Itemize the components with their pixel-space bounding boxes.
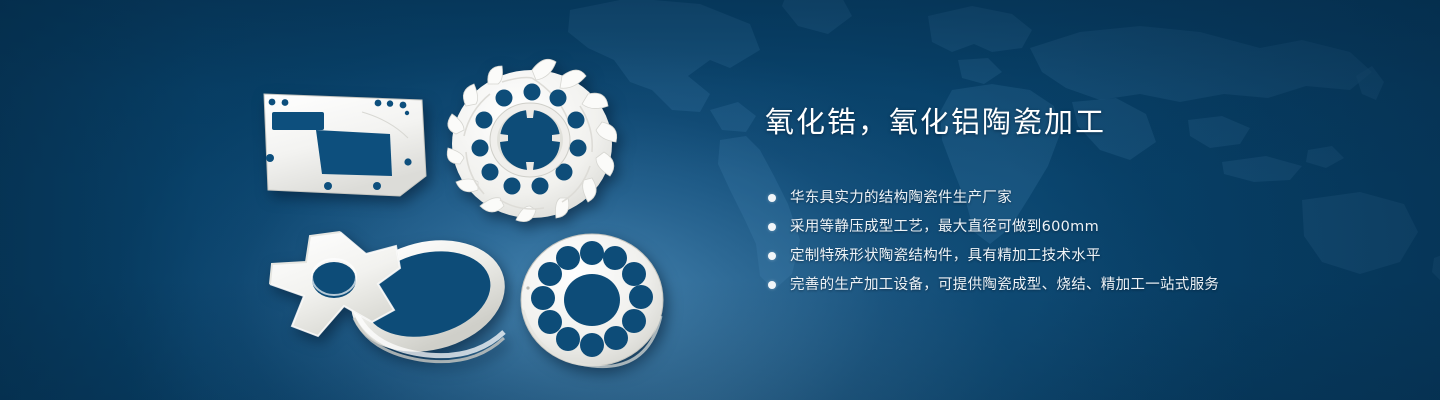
product-photo-group [0,0,760,400]
feature-list-item: 华东具实力的结构陶瓷件生产厂家 [768,188,1385,208]
feature-text: 采用等静压成型工艺，最大直径可做到600mm [790,219,1099,235]
bullet-dot-icon [768,252,776,260]
banner-headline: 氧化锆，氧化铝陶瓷加工 [765,104,1385,140]
ceramic-cross-plate-and-ring-image [248,218,518,373]
feature-text: 完善的生产加工设备，可提供陶瓷成型、烧结、精加工一站式服务 [790,277,1219,293]
banner-copy: 氧化锆，氧化铝陶瓷加工 华东具实力的结构陶瓷件生产厂家 采用等静压成型工艺，最大… [765,104,1385,304]
feature-list-item: 完善的生产加工设备，可提供陶瓷成型、烧结、精加工一站式服务 [768,275,1385,295]
bullet-dot-icon [768,223,776,231]
feature-list: 华东具实力的结构陶瓷件生产厂家 采用等静压成型工艺，最大直径可做到600mm 定… [768,188,1385,295]
ceramic-impeller-disc-image [440,48,625,233]
ceramic-mounting-plate-image [250,78,440,208]
bullet-dot-icon [768,194,776,202]
feature-list-item: 采用等静压成型工艺，最大直径可做到600mm [768,217,1385,237]
hero-banner: 氧化锆，氧化铝陶瓷加工 华东具实力的结构陶瓷件生产厂家 采用等静压成型工艺，最大… [0,0,1440,400]
feature-list-item: 定制特殊形状陶瓷结构件，具有精加工技术水平 [768,246,1385,266]
feature-text: 华东具实力的结构陶瓷件生产厂家 [790,190,1012,206]
ceramic-valve-plate-ring-image [512,226,672,378]
bullet-dot-icon [768,281,776,289]
feature-text: 定制特殊形状陶瓷结构件，具有精加工技术水平 [790,248,1101,264]
